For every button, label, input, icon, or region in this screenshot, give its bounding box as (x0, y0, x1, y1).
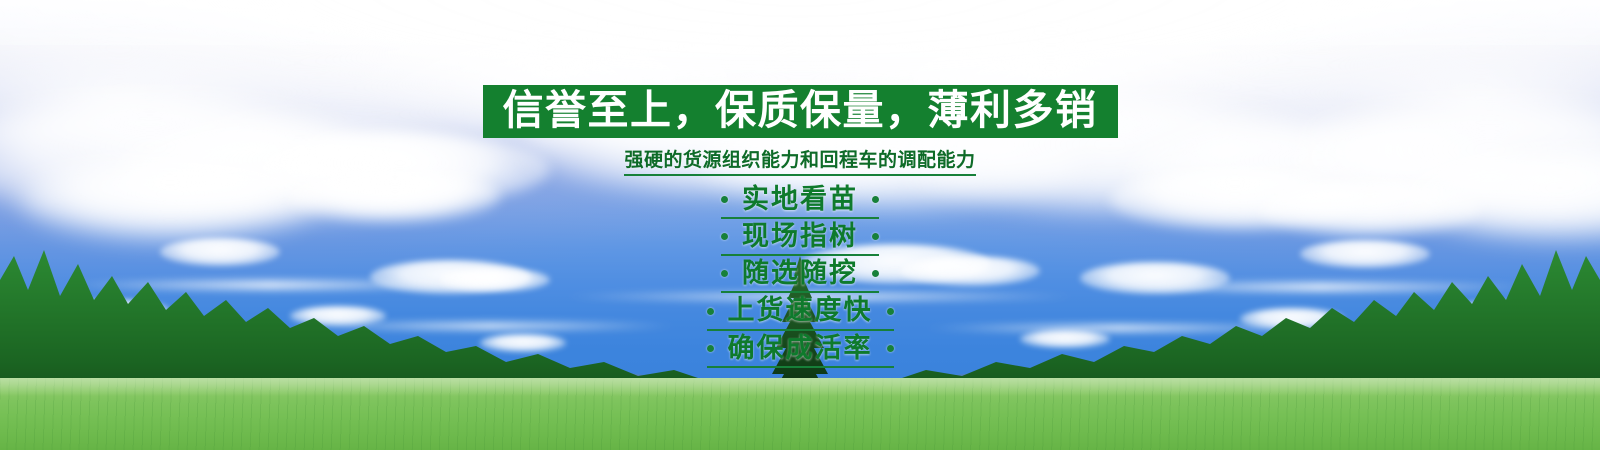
subtitle-text: 强硬的货源组织能力和回程车的调配能力 (624, 145, 975, 176)
feature-label: 实地看苗 (742, 185, 858, 214)
promo-banner: 信誉至上，保质保量，薄利多销 强硬的货源组织能力和回程车的调配能力 实地看苗 现… (0, 0, 1600, 450)
bullet-dot-icon (872, 233, 879, 240)
bullet-dot-icon (872, 270, 879, 277)
bullet-dot-icon (707, 308, 714, 315)
bullet-dot-icon (887, 308, 894, 315)
bullet-dot-icon (707, 345, 714, 352)
feature-label: 随选随挖 (742, 259, 858, 288)
feature-item: 确保成活率 (707, 334, 894, 368)
feature-label: 上货速度快 (728, 296, 873, 325)
bullet-dot-icon (721, 233, 728, 240)
bullet-dot-icon (721, 270, 728, 277)
feature-item: 实地看苗 (721, 185, 879, 219)
headline-bar: 信誉至上，保质保量，薄利多销 (483, 85, 1118, 138)
bullet-dot-icon (721, 196, 728, 203)
feature-item: 随选随挖 (721, 259, 879, 293)
banner-content: 信誉至上，保质保量，薄利多销 强硬的货源组织能力和回程车的调配能力 实地看苗 现… (0, 0, 1600, 450)
feature-list: 实地看苗 现场指树 随选随挖 上货速度快 确保成活率 (707, 185, 894, 368)
headline-text: 信誉至上，保质保量，薄利多销 (503, 90, 1098, 131)
feature-item: 上货速度快 (707, 296, 894, 330)
bullet-dot-icon (887, 345, 894, 352)
feature-label: 确保成活率 (728, 334, 873, 363)
feature-label: 现场指树 (742, 222, 858, 251)
bullet-dot-icon (872, 196, 879, 203)
feature-item: 现场指树 (721, 222, 879, 256)
